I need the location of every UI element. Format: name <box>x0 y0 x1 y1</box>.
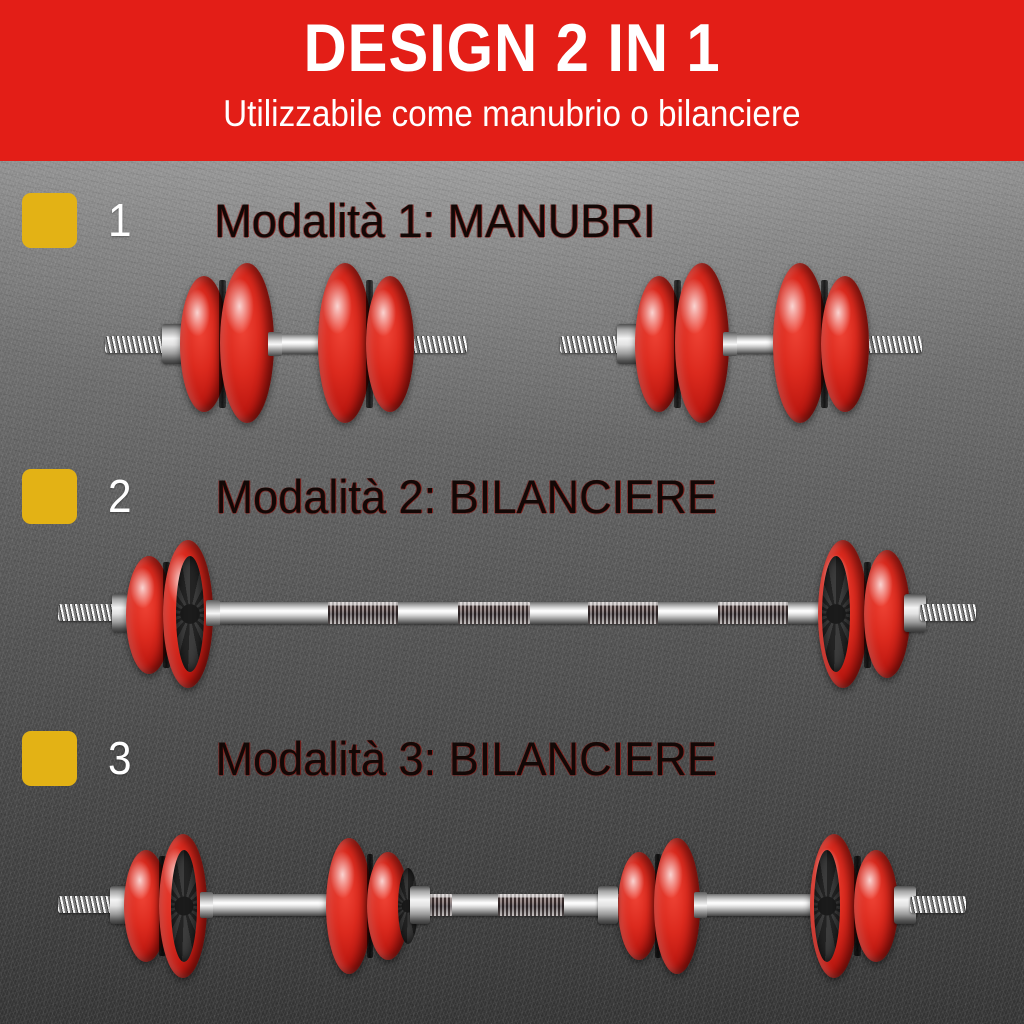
gold-square-marker-3 <box>22 731 77 786</box>
thread-end-right <box>860 336 922 353</box>
barbell-long-loaded <box>58 828 968 988</box>
mode-1-title: Modalità 1: MANUBRI <box>214 197 655 244</box>
mode-2-title: Modalità 2: BILANCIERE <box>215 473 717 520</box>
thread-end-left <box>58 896 114 913</box>
thread-end-left <box>105 336 167 353</box>
weight-plate <box>854 850 898 962</box>
product-infographic: DESIGN 2 IN 1 Utilizzabile come manubrio… <box>0 0 1024 1024</box>
page-subtitle: Utilizzabile come manubrio o bilanciere <box>223 95 800 132</box>
mode-3-label-group: 3 Modalità 3: BILANCIERE <box>22 730 727 786</box>
weight-plate <box>821 276 869 412</box>
mode-1-label-group: 1 Modalità 1: MANUBRI <box>22 192 664 248</box>
thread-end-right <box>910 896 966 913</box>
mode-3-title: Modalità 3: BILANCIERE <box>215 735 717 782</box>
plate-hub-a <box>171 850 197 962</box>
weight-plate <box>326 838 372 974</box>
weight-plate <box>366 276 414 412</box>
plate-hub-right <box>822 556 850 672</box>
mode-3-number: 3 <box>108 735 132 781</box>
page-title: DESIGN 2 IN 1 <box>303 14 720 82</box>
weight-plate <box>675 263 729 423</box>
dumbbell-right <box>555 258 925 428</box>
thread-end-left <box>560 336 622 353</box>
mode-2-label-group: 2 Modalità 2: BILANCIERE <box>22 468 727 524</box>
barbell-long <box>58 538 968 690</box>
thread-end-right <box>405 336 467 353</box>
gold-square-marker-2 <box>22 469 77 524</box>
gold-square-marker-1 <box>22 193 77 248</box>
weight-plate <box>773 263 827 423</box>
weight-plate <box>220 263 274 423</box>
plate-hub-left <box>176 556 204 672</box>
header-banner: DESIGN 2 IN 1 Utilizzabile come manubrio… <box>0 0 1024 161</box>
weight-plate <box>318 263 372 423</box>
thread-end-right <box>920 604 976 621</box>
mode-2-number: 2 <box>108 473 132 519</box>
thread-end-left <box>58 604 116 621</box>
dumbbell-left <box>100 258 470 428</box>
plate-hub-d <box>814 850 840 962</box>
mode-1-number: 1 <box>108 197 132 243</box>
